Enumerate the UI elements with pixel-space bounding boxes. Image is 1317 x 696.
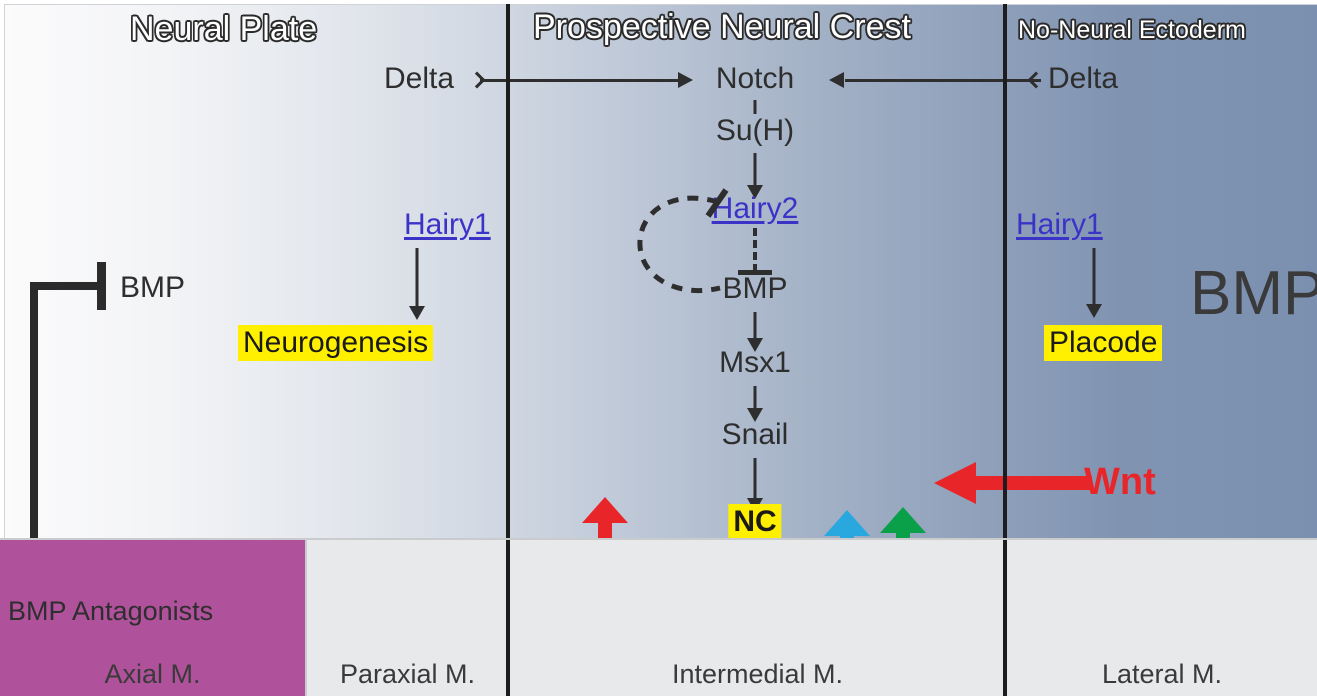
- bmp-antagonist-line-vertical: [30, 282, 38, 554]
- panel-divider-left: [506, 4, 510, 538]
- bhh-arrowhead-icon: [824, 510, 870, 536]
- mesoderm-cell-paraxial: Paraxial M.: [306, 540, 509, 696]
- arrowhead-hairy1-to-placode-icon: [1086, 304, 1102, 318]
- node-notch: Notch: [716, 62, 794, 96]
- node-su-h: Su(H): [716, 114, 794, 148]
- wnt-lateral-arrowhead-icon: [934, 462, 976, 504]
- node-hairy1-non-neural-ectoderm: Hairy1: [1016, 208, 1103, 242]
- label-wnt-lateral: Wnt: [1084, 461, 1156, 504]
- panel-divider-bottom-right: [1003, 540, 1007, 696]
- node-bmp-large-non-neural-ectoderm: BMP: [1190, 258, 1317, 329]
- mesoderm-cell-lateral: Lateral M.: [1006, 540, 1317, 696]
- node-msx1: Msx1: [719, 346, 791, 380]
- label-axial-mesoderm: Axial M.: [0, 659, 305, 690]
- fgf-arrowhead-icon: [880, 507, 926, 533]
- outcome-neurogenesis: Neurogenesis: [238, 325, 433, 361]
- bmp-antagonist-line-horizontal: [30, 282, 104, 290]
- node-delta-neural-plate: Delta: [384, 62, 454, 96]
- label-bmp-antagonists: BMP Antagonists: [8, 596, 213, 627]
- wnt-lateral-arrow-shaft: [972, 476, 1092, 490]
- connector-delta-ne-to-notch: [845, 79, 1041, 82]
- node-bmp-crest: BMP: [722, 272, 787, 306]
- connector-hairy1-to-neurogenesis: [416, 248, 419, 310]
- panel-divider-right: [1003, 4, 1007, 538]
- wnt-vertical-arrowhead-icon: [582, 497, 628, 523]
- panel-divider-bottom-left: [506, 540, 510, 696]
- connector-notch-to-suh: [754, 100, 757, 114]
- outcome-placode: Placode: [1044, 325, 1162, 361]
- connector-hairy2-inhibits-bmp: [753, 228, 757, 272]
- label-lateral-mesoderm: Lateral M.: [1007, 659, 1317, 690]
- label-paraxial-mesoderm: Paraxial M.: [307, 659, 508, 690]
- mesoderm-cell-intermedial: Intermedial M.: [509, 540, 1006, 696]
- arrowhead-delta-np-to-notch-icon: [678, 72, 693, 88]
- region-title-prospective-neural-crest: Prospective Neural Crest: [533, 8, 911, 47]
- region-title-neural-plate: Neural Plate: [130, 10, 317, 49]
- connector-delta-np-to-notch: [480, 79, 680, 82]
- connector-hairy1-to-placode: [1093, 248, 1096, 308]
- node-delta-non-neural-ectoderm: Delta: [1048, 62, 1118, 96]
- diagram-canvas: Neural Plate Prospective Neural Crest No…: [0, 0, 1317, 696]
- arrowhead-hairy1-to-neurogenesis-icon: [409, 306, 425, 320]
- inhibition-bar-bmp-neural-plate: [97, 262, 106, 310]
- region-title-non-neural-ectoderm: No-Neural Ectoderm: [1018, 16, 1246, 45]
- connector-snail-to-nc: [754, 458, 757, 502]
- node-snail: Snail: [722, 418, 789, 452]
- node-bmp-neural-plate: BMP: [120, 271, 185, 305]
- arrowhead-delta-ne-to-notch-icon: [829, 72, 844, 88]
- outcome-neural-crest: NC: [728, 504, 781, 540]
- node-hairy1-neural-plate: Hairy1: [404, 208, 491, 242]
- label-intermedial-mesoderm: Intermedial M.: [510, 659, 1005, 690]
